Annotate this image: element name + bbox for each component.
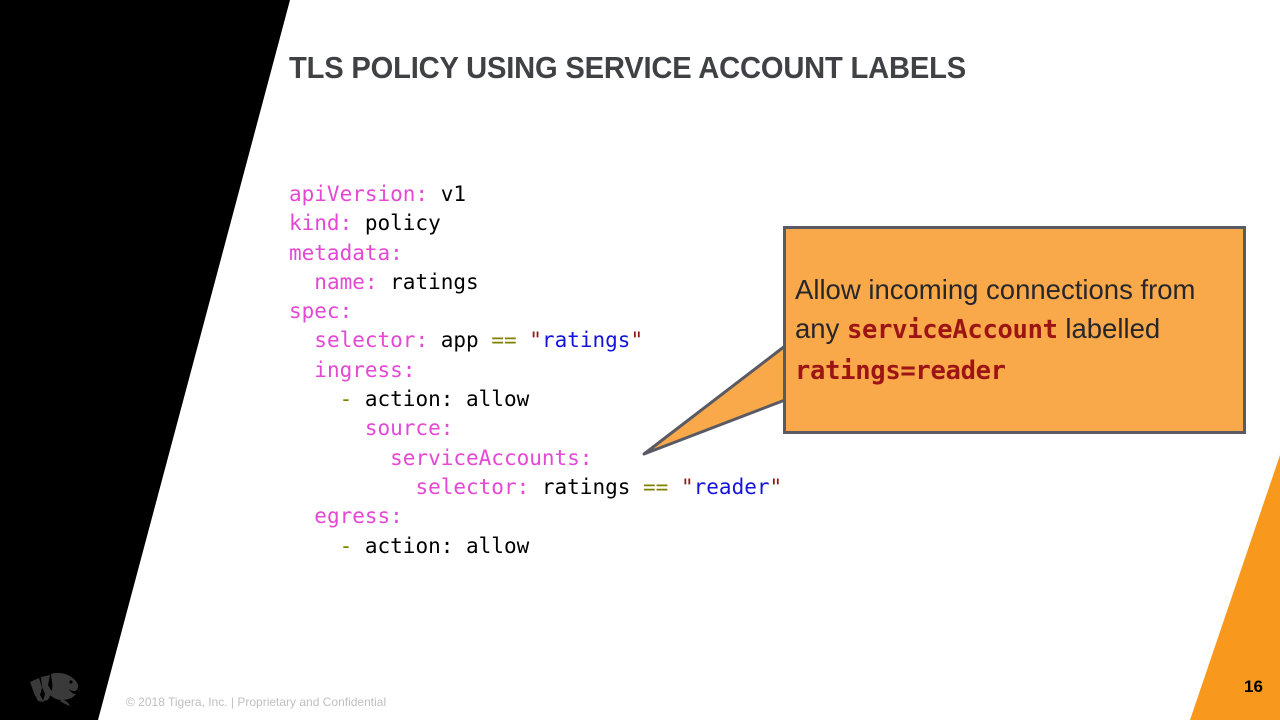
code-token: policy <box>352 211 441 235</box>
code-line: apiVersion: v1 <box>289 180 782 209</box>
tigera-panther-logo-icon <box>26 668 82 712</box>
code-token: selector: <box>415 475 529 499</box>
code-indent <box>289 358 314 382</box>
code-token: ratings <box>529 475 643 499</box>
code-token: " <box>529 328 542 352</box>
code-token <box>517 328 530 352</box>
code-token: egress: <box>314 504 403 528</box>
code-token: - <box>340 534 353 558</box>
code-token: apiVersion: <box>289 182 428 206</box>
code-indent <box>289 475 415 499</box>
code-token: serviceAccounts: <box>390 446 592 470</box>
code-line: - action: allow <box>289 532 782 561</box>
code-token: == <box>491 328 516 352</box>
slide-canvas: TLS POLICY USING SERVICE ACCOUNT LABELS … <box>0 0 1280 720</box>
yaml-code-block: apiVersion: v1kind: policymetadata: name… <box>289 180 782 561</box>
callout-phrase: labelled <box>1058 313 1160 344</box>
code-indent <box>289 387 340 411</box>
code-token <box>668 475 681 499</box>
code-line: spec: <box>289 297 782 326</box>
orange-wedge-shape <box>1190 430 1280 720</box>
code-line: source: <box>289 414 782 443</box>
code-token: reader <box>694 475 770 499</box>
code-token: app <box>428 328 491 352</box>
code-indent <box>289 270 314 294</box>
code-token: metadata: <box>289 241 403 265</box>
callout-code-term: serviceAccount <box>847 315 1058 345</box>
code-line: selector: ratings == "reader" <box>289 473 782 502</box>
code-line: name: ratings <box>289 268 782 297</box>
black-wedge-shape <box>0 0 300 720</box>
code-indent <box>289 328 314 352</box>
code-token: action: allow <box>352 534 529 558</box>
code-token: ratings <box>378 270 479 294</box>
code-token: " <box>630 328 643 352</box>
callout-text: Allow incoming connections from any serv… <box>795 270 1235 391</box>
code-token: kind: <box>289 211 352 235</box>
code-line: kind: policy <box>289 209 782 238</box>
code-token: ingress: <box>314 358 415 382</box>
code-token: source: <box>365 416 454 440</box>
code-token: - <box>340 387 353 411</box>
code-line: serviceAccounts: <box>289 444 782 473</box>
code-token: " <box>770 475 783 499</box>
code-token: selector: <box>314 328 428 352</box>
code-indent <box>289 534 340 558</box>
code-indent <box>289 504 314 528</box>
callout-code-term: ratings=reader <box>795 356 1006 386</box>
code-line: metadata: <box>289 239 782 268</box>
code-indent <box>289 446 390 470</box>
code-token: name: <box>314 270 377 294</box>
footer-copyright: © 2018 Tigera, Inc. | Proprietary and Co… <box>126 695 386 709</box>
page-title: TLS POLICY USING SERVICE ACCOUNT LABELS <box>289 50 1135 86</box>
code-token: == <box>643 475 668 499</box>
code-token: ratings <box>542 328 631 352</box>
code-line: egress: <box>289 502 782 531</box>
code-token: spec: <box>289 299 352 323</box>
code-token: action: allow <box>352 387 529 411</box>
code-line: ingress: <box>289 356 782 385</box>
code-token: " <box>681 475 694 499</box>
code-token: v1 <box>428 182 466 206</box>
page-number: 16 <box>1244 677 1263 697</box>
code-line: selector: app == "ratings" <box>289 326 782 355</box>
code-indent <box>289 416 365 440</box>
code-line: - action: allow <box>289 385 782 414</box>
